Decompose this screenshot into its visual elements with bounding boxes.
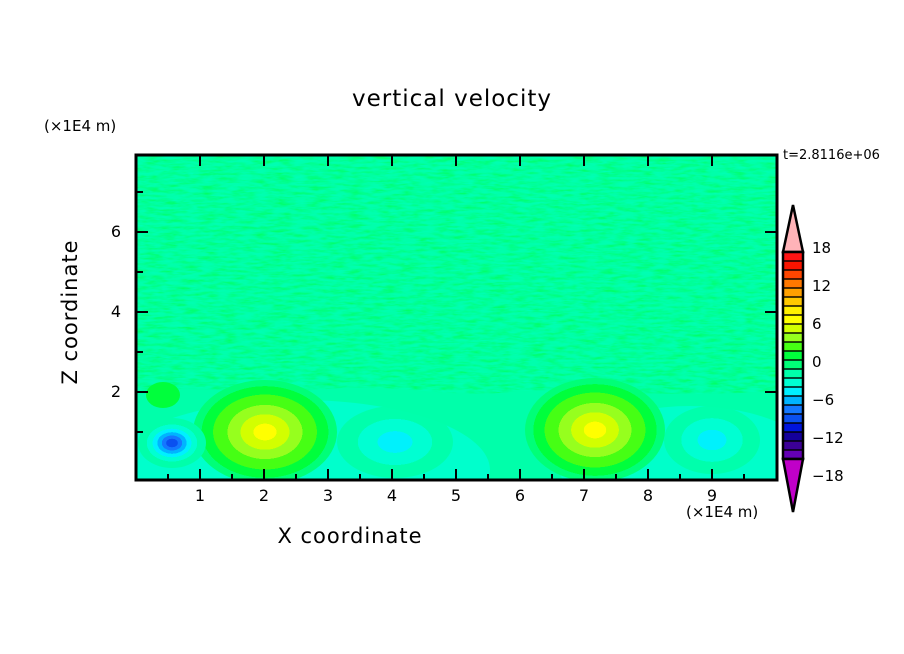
colorbar-band-6: [783, 306, 803, 316]
colorbar-bands: [783, 252, 803, 460]
colorbar-band-13: [783, 369, 803, 379]
x-tick-label-5: 5: [436, 486, 476, 505]
colorbar-band-19: [783, 423, 803, 433]
colorbar-band-18: [783, 414, 803, 424]
y-tick-label-4: 4: [104, 302, 128, 321]
weak-cell-mid: [337, 406, 453, 478]
chart-title: vertical velocity: [0, 86, 904, 112]
updraft-core-right: [525, 378, 665, 482]
colorbar-band-12: [783, 360, 803, 370]
colorbar-band-7: [783, 315, 803, 325]
timestamp-annotation: t=2.8116e+06: [783, 148, 880, 163]
colorbar-band-1: [783, 261, 803, 271]
colorbar-band-21: [783, 441, 803, 451]
colorbar-band-10: [783, 342, 803, 352]
updraft-core-left: [193, 380, 337, 484]
y-tick-label-2: 2: [104, 382, 128, 401]
colorbar-band-16: [783, 396, 803, 406]
y-tick-label-6: 6: [104, 222, 128, 241]
x-tick-label-9: 9: [692, 486, 732, 505]
colorbar-under-cap: [783, 459, 803, 512]
colorbar-band-20: [783, 432, 803, 442]
x-tick-label-3: 3: [308, 486, 348, 505]
downdraft-core: [138, 418, 206, 468]
colorbar-band-15: [783, 387, 803, 397]
colorbar-band-2: [783, 270, 803, 280]
x-tick-label-4: 4: [372, 486, 412, 505]
colorbar-band-4: [783, 288, 803, 298]
colorbar-band-3: [783, 279, 803, 289]
x-tick-label-8: 8: [628, 486, 668, 505]
colorbar-label-neg12: −12: [812, 429, 844, 447]
turbulent-layer: [130, 150, 785, 400]
colorbar-band-0: [783, 252, 803, 262]
colorbar[interactable]: [783, 205, 803, 512]
colorbar-band-11: [783, 351, 803, 361]
weak-cell-right: [664, 406, 760, 474]
colorbar-band-8: [783, 324, 803, 334]
colorbar-label-12: 12: [812, 277, 831, 295]
green-blob-left: [146, 382, 180, 408]
colorbar-band-17: [783, 405, 803, 415]
x-tick-label-6: 6: [500, 486, 540, 505]
colorbar-band-9: [783, 333, 803, 343]
x-tick-label-1: 1: [180, 486, 220, 505]
colorbar-label-neg18: −18: [812, 467, 844, 485]
colorbar-band-14: [783, 378, 803, 388]
y-axis-title: Z coordinate: [58, 212, 82, 412]
x-tick-label-2: 2: [244, 486, 284, 505]
x-axis-title: X coordinate: [0, 524, 700, 548]
colorbar-over-cap: [783, 205, 803, 252]
colorbar-label-6: 6: [812, 315, 822, 333]
colorbar-label-18: 18: [812, 239, 831, 257]
colorbar-label-0: 0: [812, 353, 822, 371]
y-axis-unit-label: (×1E4 m): [44, 117, 116, 135]
x-axis-unit-label: (×1E4 m): [686, 503, 758, 521]
x-tick-label-7: 7: [564, 486, 604, 505]
colorbar-band-5: [783, 297, 803, 307]
colorbar-label-neg6: −6: [812, 391, 834, 409]
